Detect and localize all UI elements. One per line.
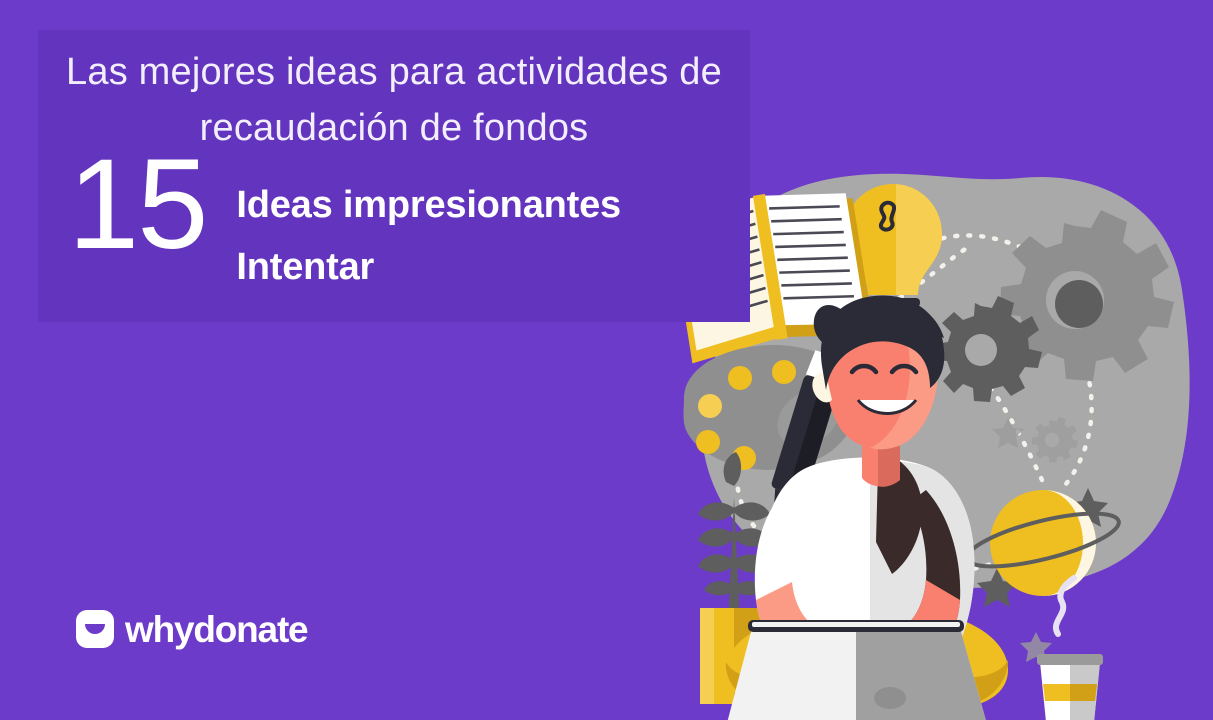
fundraising-ideas-banner: Las mejores ideas para actividades de re…	[0, 0, 1213, 720]
whydonate-logo[interactable]: whydonate	[76, 610, 307, 648]
headline-panel: Las mejores ideas para actividades de re…	[38, 30, 750, 322]
logo-wordmark: whydonate	[125, 611, 307, 648]
headline-line-2: Intentar	[236, 236, 621, 298]
headline-lines: Ideas impresionantes Intentar	[236, 174, 621, 298]
laptop-icon	[712, 620, 1002, 720]
headline-bottom-row: 15 Ideas impresionantes Intentar	[68, 158, 621, 298]
headline-line-1: Ideas impresionantes	[236, 174, 621, 236]
headline-number: 15	[68, 146, 206, 264]
smile-square-icon	[76, 610, 114, 648]
coffee-cup-icon	[1037, 578, 1103, 720]
